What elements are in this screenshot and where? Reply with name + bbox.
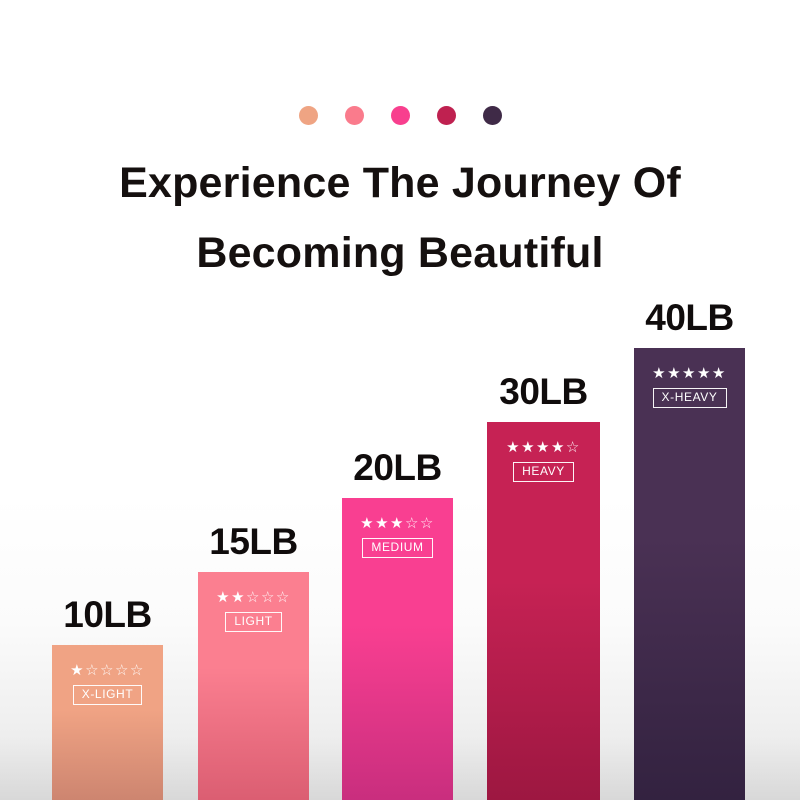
star-filled-icon: ★ xyxy=(682,365,697,382)
star-filled-icon: ★ xyxy=(667,365,682,382)
star-filled-icon: ★ xyxy=(231,589,246,606)
weight-label: 15LB xyxy=(209,523,297,560)
bar-group[interactable]: ★★☆☆☆LIGHT15LB xyxy=(198,572,309,800)
level-badge: MEDIUM xyxy=(362,538,432,558)
level-badge: X-LIGHT xyxy=(73,685,143,705)
star-filled-icon: ★ xyxy=(216,589,231,606)
star-filled-icon: ★ xyxy=(375,515,390,532)
bar[interactable]: ★★★☆☆MEDIUM xyxy=(342,498,453,800)
weight-label: 30LB xyxy=(499,373,587,410)
star-filled-icon: ★ xyxy=(70,662,85,679)
bar[interactable]: ★★★★☆HEAVY xyxy=(487,422,600,800)
bar-group[interactable]: ★★★★★X-HEAVY40LB xyxy=(634,348,745,800)
bar-inner-content: ★☆☆☆☆X-LIGHT xyxy=(52,663,163,705)
bar[interactable]: ★☆☆☆☆X-LIGHT xyxy=(52,645,163,800)
star-empty-icon: ☆ xyxy=(566,439,581,456)
star-filled-icon: ★ xyxy=(360,515,375,532)
star-filled-icon: ★ xyxy=(697,365,712,382)
star-empty-icon: ☆ xyxy=(246,589,261,606)
weight-label: 10LB xyxy=(63,596,151,633)
star-rating: ★★☆☆☆ xyxy=(198,590,309,606)
bar-inner-content: ★★★☆☆MEDIUM xyxy=(342,516,453,558)
weight-label: 20LB xyxy=(353,449,441,486)
star-rating: ★★★★☆ xyxy=(487,440,600,456)
star-empty-icon: ☆ xyxy=(100,662,115,679)
star-empty-icon: ☆ xyxy=(85,662,100,679)
product-infographic: Experience The Journey Of Becoming Beaut… xyxy=(0,0,800,800)
level-badge: HEAVY xyxy=(513,462,574,482)
bar-inner-content: ★★★★★X-HEAVY xyxy=(634,366,745,408)
star-filled-icon: ★ xyxy=(536,439,551,456)
star-empty-icon: ☆ xyxy=(261,589,276,606)
star-filled-icon: ★ xyxy=(506,439,521,456)
star-rating: ★☆☆☆☆ xyxy=(52,663,163,679)
bar-group[interactable]: ★☆☆☆☆X-LIGHT10LB xyxy=(52,645,163,800)
bar-group[interactable]: ★★★★☆HEAVY30LB xyxy=(487,422,600,800)
weight-label: 40LB xyxy=(645,299,733,336)
resistance-band-bar-chart: ★☆☆☆☆X-LIGHT10LB★★☆☆☆LIGHT15LB★★★☆☆MEDIU… xyxy=(0,0,800,800)
star-filled-icon: ★ xyxy=(521,439,536,456)
star-filled-icon: ★ xyxy=(712,365,727,382)
star-filled-icon: ★ xyxy=(390,515,405,532)
level-badge: X-HEAVY xyxy=(653,388,727,408)
star-filled-icon: ★ xyxy=(652,365,667,382)
star-empty-icon: ☆ xyxy=(405,515,420,532)
star-filled-icon: ★ xyxy=(551,439,566,456)
bar-group[interactable]: ★★★☆☆MEDIUM20LB xyxy=(342,498,453,800)
bar-inner-content: ★★★★☆HEAVY xyxy=(487,440,600,482)
bar[interactable]: ★★☆☆☆LIGHT xyxy=(198,572,309,800)
star-rating: ★★★★★ xyxy=(634,366,745,382)
star-empty-icon: ☆ xyxy=(420,515,435,532)
level-badge: LIGHT xyxy=(225,612,281,632)
star-empty-icon: ☆ xyxy=(130,662,145,679)
bar[interactable]: ★★★★★X-HEAVY xyxy=(634,348,745,800)
bar-inner-content: ★★☆☆☆LIGHT xyxy=(198,590,309,632)
star-empty-icon: ☆ xyxy=(276,589,291,606)
star-empty-icon: ☆ xyxy=(115,662,130,679)
star-rating: ★★★☆☆ xyxy=(342,516,453,532)
